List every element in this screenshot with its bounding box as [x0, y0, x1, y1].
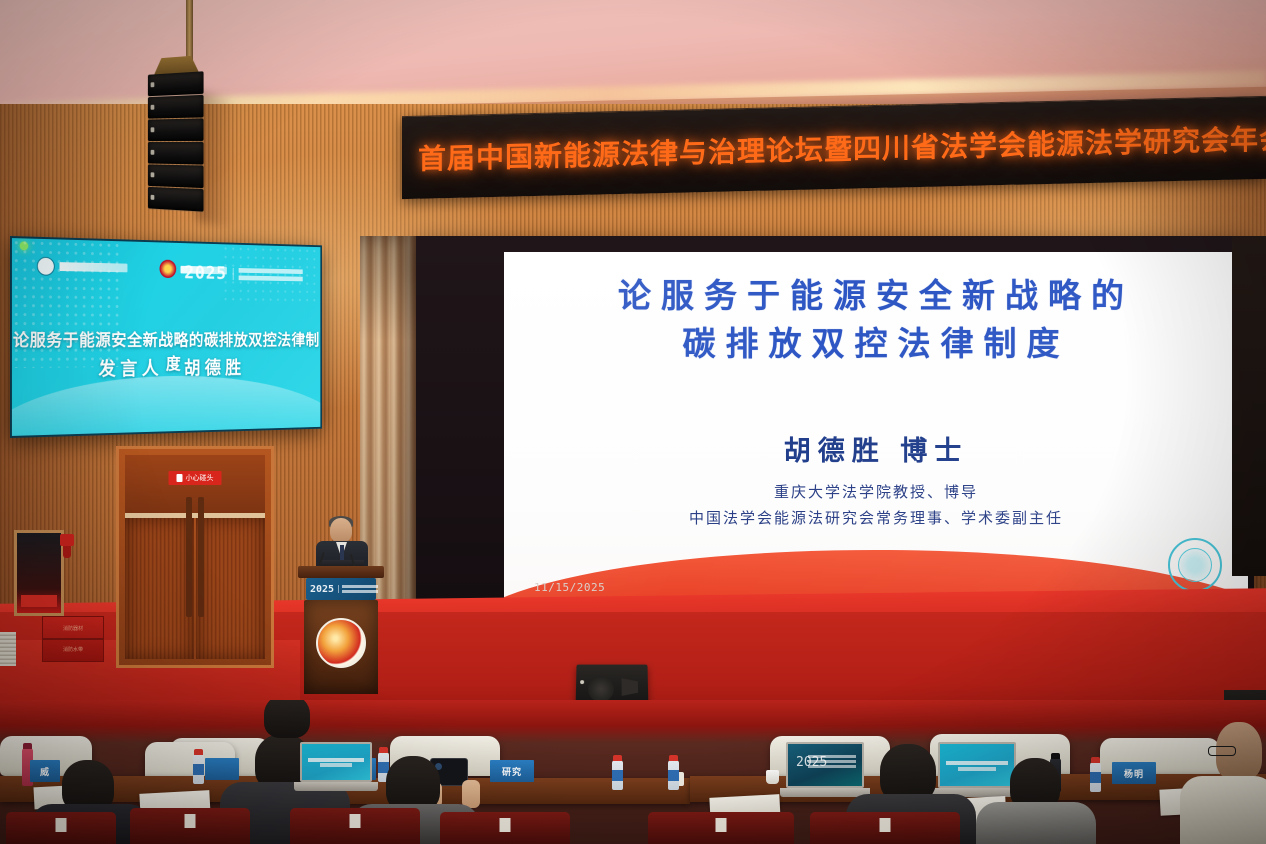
door-warning-text: 小心碰头 [186, 473, 214, 483]
podium-sign-year: 2025 [310, 584, 334, 595]
seat-back [290, 808, 420, 844]
law-society-emblem-icon [160, 260, 177, 278]
warning-person-icon [177, 474, 183, 482]
conference-hall-photo: 首届中国新能源法律与治理论坛暨四川省法学会能源法学研究会年会 2025 论服务于… [0, 0, 1266, 844]
seat-back [648, 812, 794, 844]
fire-alarm-icon[interactable] [60, 534, 74, 546]
framed-poster [14, 530, 64, 616]
name-card: 研究 [490, 760, 534, 782]
right-wall-panel [1232, 236, 1266, 576]
presentation-slide: 论服务于能源安全新战略的 碳排放双控法律制度 胡德胜 博士 重庆大学法学院教授、… [504, 252, 1248, 610]
water-bottle [193, 754, 204, 784]
slide-date: 11/15/2025 [534, 581, 605, 594]
door-leaf-left[interactable] [125, 518, 194, 659]
door-leaves [125, 518, 265, 659]
podium-sign-text-bars [338, 585, 378, 593]
audience-laptop[interactable] [300, 742, 372, 782]
slide-title-line-1: 论服务于能源安全新战略的 [504, 272, 1248, 320]
door-handle-left[interactable] [186, 497, 192, 618]
water-bottle [1090, 762, 1101, 792]
presenter-head [330, 518, 352, 543]
side-screen-year: 2025 [184, 262, 227, 284]
university-logo-wordmark [59, 262, 127, 272]
seat-back [6, 812, 116, 844]
mind-your-head-sign: 小心碰头 [169, 471, 222, 485]
name-card: 杨明 [1112, 762, 1156, 784]
slide-affiliation-line-2: 中国法学会能源法研究会常务理事、学术委副主任 [504, 506, 1248, 532]
water-bottle [612, 760, 623, 790]
slide-seal-icon [1168, 538, 1222, 592]
banner-text: 首届中国新能源法律与治理论坛暨四川省法学会能源法学研究会年会 [418, 117, 1266, 178]
eyeglasses [1208, 746, 1236, 756]
audience-laptop[interactable]: 2025 [786, 742, 864, 788]
chest-label-top: 消防器材 [43, 625, 103, 632]
audience-area: 威 吕小花 研究 2025 [0, 700, 1266, 844]
audience-shoulders [1180, 776, 1266, 844]
slide-affiliation-line-1: 重庆大学法学院教授、博导 [504, 480, 1248, 506]
name-card: 威 [30, 760, 60, 782]
slide-affiliation: 重庆大学法学院教授、博导 中国法学会能源法研究会常务理事、学术委副主任 [504, 480, 1248, 531]
door-handle-right[interactable] [198, 497, 204, 618]
line-array-speaker [148, 71, 206, 215]
audience-shoulders [976, 802, 1096, 844]
chest-label-bottom: 消防水带 [43, 646, 103, 653]
hand [462, 780, 480, 808]
presenter-tie [340, 545, 344, 561]
slide-presenter-name: 胡德胜 博士 [504, 429, 1248, 468]
seat-back [810, 812, 960, 844]
hall-door[interactable]: 小心碰头 [116, 446, 274, 668]
podium-top [298, 566, 384, 578]
seat-back [440, 812, 570, 844]
wall-vent [0, 632, 16, 666]
audience-laptop[interactable] [938, 742, 1016, 788]
side-screen-subtext-bars [233, 267, 303, 280]
side-display-screen: 2025 论服务于能源安全新战略的碳排放双控法律制度 发言人 胡德胜 [10, 236, 322, 438]
university-logo [37, 257, 128, 278]
podium-sign: 2025 [306, 578, 376, 600]
fire-equipment-chest: 消防器材 消防水带 [42, 616, 104, 662]
projection-screen-frame: 论服务于能源安全新战略的 碳排放双控法律制度 胡德胜 博士 重庆大学法学院教授、… [416, 236, 1254, 628]
university-emblem-icon [37, 257, 55, 276]
water-bottle [668, 760, 679, 790]
side-screen-year-block: 2025 [184, 262, 303, 285]
podium-emblem-icon [316, 618, 366, 668]
audience-head [264, 700, 310, 738]
seat-back [130, 808, 250, 844]
speaking-podium: 2025 [302, 566, 380, 694]
door-leaf-right[interactable] [196, 518, 265, 659]
paper-cup [766, 770, 779, 784]
slide-title: 论服务于能源安全新战略的 碳排放双控法律制度 [504, 272, 1248, 368]
name-card [205, 758, 239, 780]
slide-title-line-2: 碳排放双控法律制度 [504, 320, 1248, 368]
side-screen-wave-decoration [10, 374, 322, 438]
